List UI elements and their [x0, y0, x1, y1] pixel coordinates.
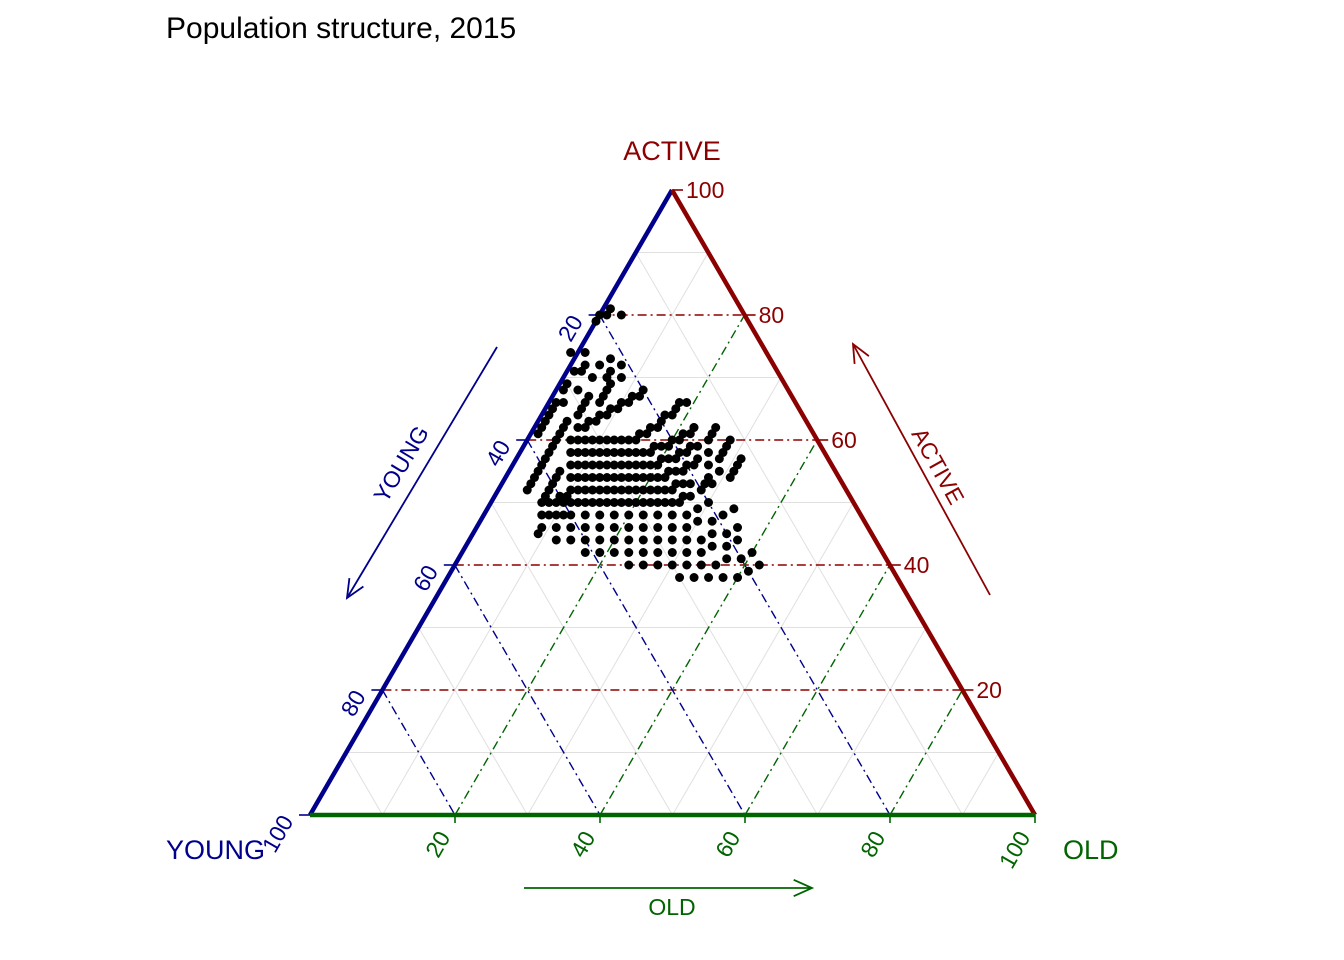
data-point — [595, 523, 604, 532]
data-point — [682, 548, 691, 557]
data-point-layer — [523, 304, 764, 582]
data-point — [704, 573, 713, 582]
data-point — [697, 561, 706, 570]
data-point — [686, 492, 695, 501]
data-point — [552, 523, 561, 532]
data-point — [697, 548, 706, 557]
data-point — [668, 561, 677, 570]
page-title: Population structure, 2015 — [166, 12, 516, 46]
data-point — [668, 548, 677, 557]
axis-arrow-young-shaft — [347, 347, 497, 598]
data-point — [588, 373, 597, 382]
data-point — [610, 511, 619, 520]
data-point — [566, 523, 575, 532]
data-point — [653, 548, 662, 557]
data-point — [737, 554, 746, 563]
data-point — [668, 523, 677, 532]
axis-arrow-label-old: OLD — [648, 894, 695, 920]
tick-label-active-60: 60 — [831, 427, 857, 453]
gridline-old-90 — [963, 753, 999, 816]
data-point — [715, 467, 724, 476]
data-point — [639, 548, 648, 557]
data-point — [689, 423, 698, 432]
data-point — [711, 561, 720, 570]
data-point — [722, 554, 731, 563]
tick-label-old-80: 80 — [855, 827, 890, 862]
data-point — [744, 567, 753, 576]
data-point — [534, 529, 543, 538]
data-point — [733, 536, 742, 545]
data-point — [668, 511, 677, 520]
data-point — [624, 523, 633, 532]
data-point — [573, 386, 582, 395]
data-point — [704, 473, 713, 482]
data-point — [639, 561, 648, 570]
data-point — [737, 454, 746, 463]
data-point — [733, 573, 742, 582]
data-point — [606, 304, 615, 313]
data-point — [566, 511, 575, 520]
data-point — [690, 573, 699, 582]
data-point — [722, 542, 731, 551]
gridline-young-70 — [419, 628, 528, 816]
data-point — [581, 536, 590, 545]
tick-label-old-100: 100 — [994, 827, 1036, 873]
data-point — [704, 461, 713, 470]
data-point — [722, 529, 731, 538]
ternary-plot-root: Population structure, 2015 1008060402020… — [0, 0, 1344, 960]
data-point — [595, 511, 604, 520]
data-point — [617, 311, 626, 320]
gridline-old-70 — [818, 628, 927, 816]
data-point — [719, 511, 728, 520]
data-point — [566, 536, 575, 545]
data-point — [708, 517, 717, 526]
data-point — [697, 536, 706, 545]
data-point — [693, 454, 702, 463]
data-point — [595, 361, 604, 370]
tick-label-old-40: 40 — [565, 827, 600, 862]
minor-gridlines — [346, 253, 999, 816]
data-point — [624, 548, 633, 557]
tick-label-old-20: 20 — [420, 827, 455, 862]
data-point — [610, 536, 619, 545]
data-point — [595, 548, 604, 557]
data-point — [686, 479, 695, 488]
data-point — [639, 386, 648, 395]
data-point — [606, 354, 615, 363]
data-point — [581, 348, 590, 357]
apex-label-old: OLD — [1063, 835, 1119, 865]
data-point — [668, 536, 677, 545]
gridline-old-10 — [383, 253, 709, 816]
data-point — [559, 386, 568, 395]
data-point — [729, 504, 738, 513]
data-point — [704, 448, 713, 457]
axis-arrow-label-young: YOUNG — [368, 421, 434, 507]
data-point — [639, 523, 648, 532]
data-point — [711, 423, 720, 432]
data-point — [610, 548, 619, 557]
data-point — [617, 373, 626, 382]
data-point — [581, 523, 590, 532]
data-point — [581, 361, 590, 370]
data-point — [675, 573, 684, 582]
data-point — [693, 504, 702, 513]
data-point — [748, 548, 757, 557]
apex-label-young: YOUNG — [166, 835, 265, 865]
data-point — [602, 373, 611, 382]
tick-label-active-40: 40 — [904, 552, 930, 578]
data-point — [682, 398, 691, 407]
data-point — [653, 536, 662, 545]
data-point — [704, 498, 713, 507]
axis-arrow-young — [347, 347, 497, 598]
data-point — [682, 561, 691, 570]
data-point — [523, 486, 532, 495]
data-point — [552, 536, 561, 545]
data-point — [726, 436, 735, 445]
data-point — [584, 392, 593, 401]
data-point — [639, 511, 648, 520]
data-point — [719, 573, 728, 582]
data-point — [534, 429, 543, 438]
tick-label-active-80: 80 — [759, 302, 785, 328]
data-point — [617, 361, 626, 370]
tick-label-old-60: 60 — [710, 827, 745, 862]
data-point — [682, 523, 691, 532]
data-point — [653, 561, 662, 570]
gridline-young-90 — [346, 753, 382, 816]
axis-arrow-label-active: ACTIVE — [906, 423, 969, 508]
data-point — [595, 536, 604, 545]
data-point — [639, 536, 648, 545]
data-point — [708, 542, 717, 551]
data-point — [610, 523, 619, 532]
tick-label-active-100: 100 — [686, 177, 724, 203]
data-point — [559, 398, 568, 407]
data-point — [566, 348, 575, 357]
data-point — [708, 529, 717, 538]
data-point — [581, 511, 590, 520]
data-point — [573, 411, 582, 420]
gridline-young-10 — [636, 253, 963, 816]
data-point — [591, 317, 600, 326]
data-point — [653, 511, 662, 520]
data-point — [581, 548, 590, 557]
data-point — [733, 523, 742, 532]
data-point — [624, 511, 633, 520]
data-point — [693, 442, 702, 451]
data-point — [755, 561, 764, 570]
data-point — [682, 536, 691, 545]
data-point — [653, 523, 662, 532]
ternary-plot-svg: 100806040202040608010020406080100 ACTIVE… — [0, 0, 1344, 960]
data-point — [624, 561, 633, 570]
data-point — [624, 536, 633, 545]
apex-label-active: ACTIVE — [623, 136, 721, 166]
tick-label-active-20: 20 — [976, 677, 1002, 703]
data-point — [682, 511, 691, 520]
data-point — [693, 517, 702, 526]
